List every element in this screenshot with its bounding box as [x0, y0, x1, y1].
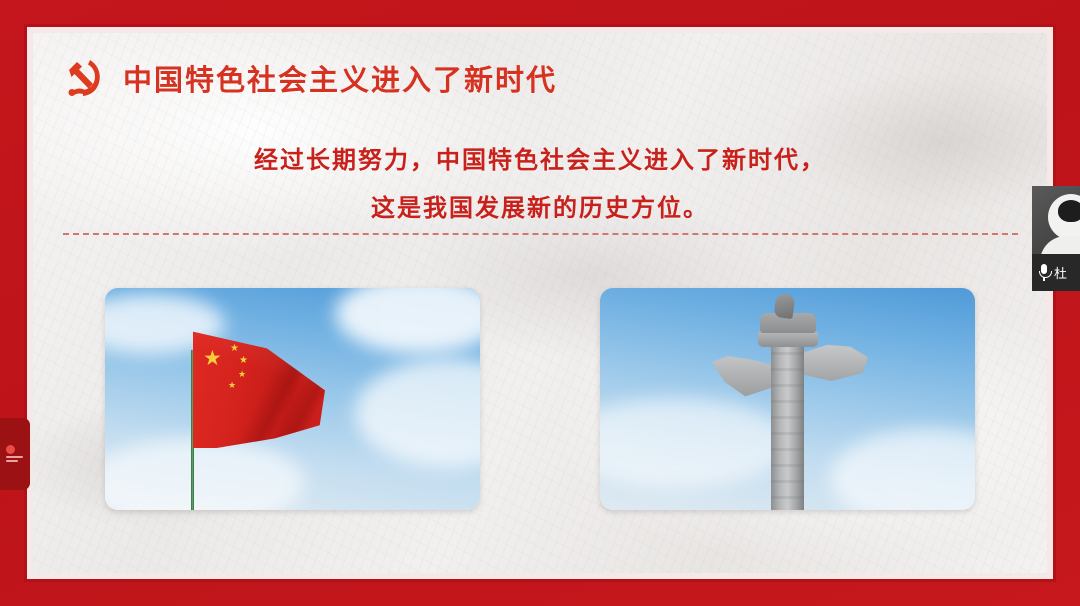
- person-avatar-icon: [1032, 186, 1080, 254]
- cpc-hammer-sickle-icon: [57, 53, 107, 103]
- huabiao-column-photo: [600, 288, 975, 510]
- participant-name: 杜: [1054, 263, 1067, 282]
- body-line-2: 这是我国发展新的历史方位。: [33, 179, 1047, 227]
- huabiao-column-shaft: [771, 336, 804, 510]
- body-line-1: 经过长期努力，中国特色社会主义进入了新时代，: [33, 143, 1047, 179]
- participant-status-bar: 杜: [1032, 254, 1080, 291]
- flag-star-small: ★: [239, 356, 248, 366]
- slide-content-area: 中国特色社会主义进入了新时代 经过长期努力，中国特色社会主义进入了新时代， 这是…: [33, 33, 1047, 573]
- slide-header: 中国特色社会主义进入了新时代: [57, 53, 557, 103]
- dashed-divider: [63, 233, 1018, 235]
- flag-star-small: ★: [228, 381, 236, 390]
- flag-star-small: ★: [238, 370, 246, 379]
- left-toolbar-tab[interactable]: [0, 418, 30, 490]
- huabiao-hou-beast: [773, 293, 795, 319]
- slide-body-text: 经过长期努力，中国特色社会主义进入了新时代， 这是我国发展新的历史方位。: [33, 143, 1047, 227]
- bullet-list-icon: [6, 445, 24, 463]
- photo-row: ★ ★ ★ ★ ★: [33, 288, 1047, 513]
- presentation-slide: 中国特色社会主义进入了新时代 经过长期努力，中国特色社会主义进入了新时代， 这是…: [0, 0, 1080, 606]
- microphone-icon[interactable]: [1038, 264, 1050, 281]
- video-participant-overlay[interactable]: 杜: [1032, 186, 1080, 291]
- chinese-national-flag-photo: ★ ★ ★ ★ ★: [105, 288, 480, 510]
- page-title: 中国特色社会主义进入了新时代: [123, 57, 557, 99]
- flag-star-large: ★: [203, 348, 222, 369]
- flag-star-small: ★: [230, 344, 239, 354]
